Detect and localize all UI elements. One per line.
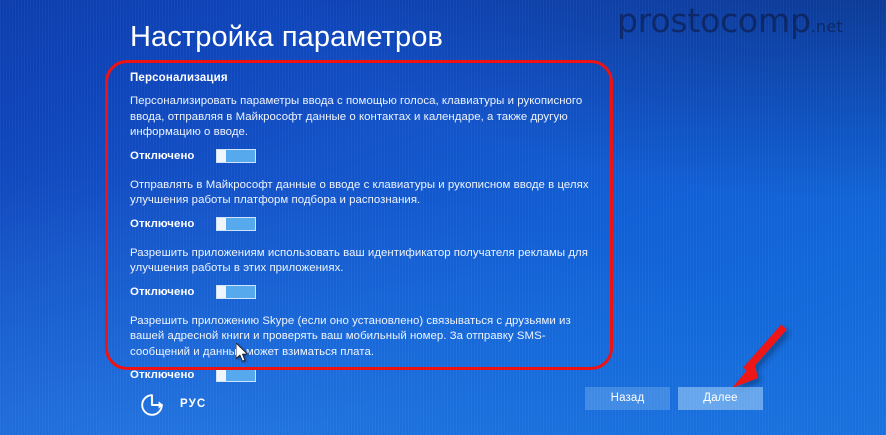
toggle-state-label: Отключено (130, 218, 216, 230)
section-title-personalization: Персонализация (130, 72, 602, 84)
setting-item: Отправлять в Майкрософт данные о вводе с… (130, 178, 602, 232)
setting-item: Персонализировать параметры ввода с помо… (130, 94, 602, 164)
setting-description: Разрешить приложениям использовать ваш и… (130, 246, 590, 277)
toggle-state-label: Отключено (130, 369, 216, 381)
setting-item: Разрешить приложениям использовать ваш и… (130, 246, 602, 300)
settings-panel: Персонализация Персонализировать парамет… (130, 72, 602, 397)
next-button[interactable]: Далее (678, 387, 763, 410)
setting-control-row: Отключено (130, 216, 602, 232)
back-button[interactable]: Назад (585, 387, 670, 410)
toggle-switch-personalize-input[interactable] (216, 149, 256, 163)
setting-control-row: Отключено (130, 284, 602, 300)
watermark-tld: .net (811, 17, 843, 36)
toggle-switch-send-typing-data[interactable] (216, 217, 256, 231)
setting-control-row: Отключено (130, 367, 602, 383)
toggle-state-label: Отключено (130, 286, 216, 298)
oobe-screen: prostocomp.net Настройка параметров Перс… (0, 0, 886, 435)
setting-description: Отправлять в Майкрософт данные о вводе с… (130, 178, 590, 209)
toggle-state-label: Отключено (130, 150, 216, 162)
toggle-thumb (217, 286, 226, 298)
toggle-switch-advertising-id[interactable] (216, 285, 256, 299)
ease-of-access-icon[interactable] (139, 392, 165, 418)
watermark-name: prostocomp (617, 1, 811, 40)
setting-description: Персонализировать параметры ввода с помо… (130, 94, 590, 141)
page-title: Настройка параметров (130, 21, 443, 54)
toggle-switch-skype-contacts[interactable] (216, 368, 256, 382)
setting-item: Разрешить приложению Skype (если оно уст… (130, 314, 602, 384)
setting-description: Разрешить приложению Skype (если оно уст… (130, 314, 590, 361)
toggle-thumb (217, 218, 226, 230)
keyboard-language-indicator[interactable]: РУС (180, 398, 206, 410)
toggle-thumb (217, 150, 226, 162)
toggle-thumb (217, 369, 226, 381)
setting-control-row: Отключено (130, 148, 602, 164)
site-watermark: prostocomp.net (617, 4, 843, 37)
